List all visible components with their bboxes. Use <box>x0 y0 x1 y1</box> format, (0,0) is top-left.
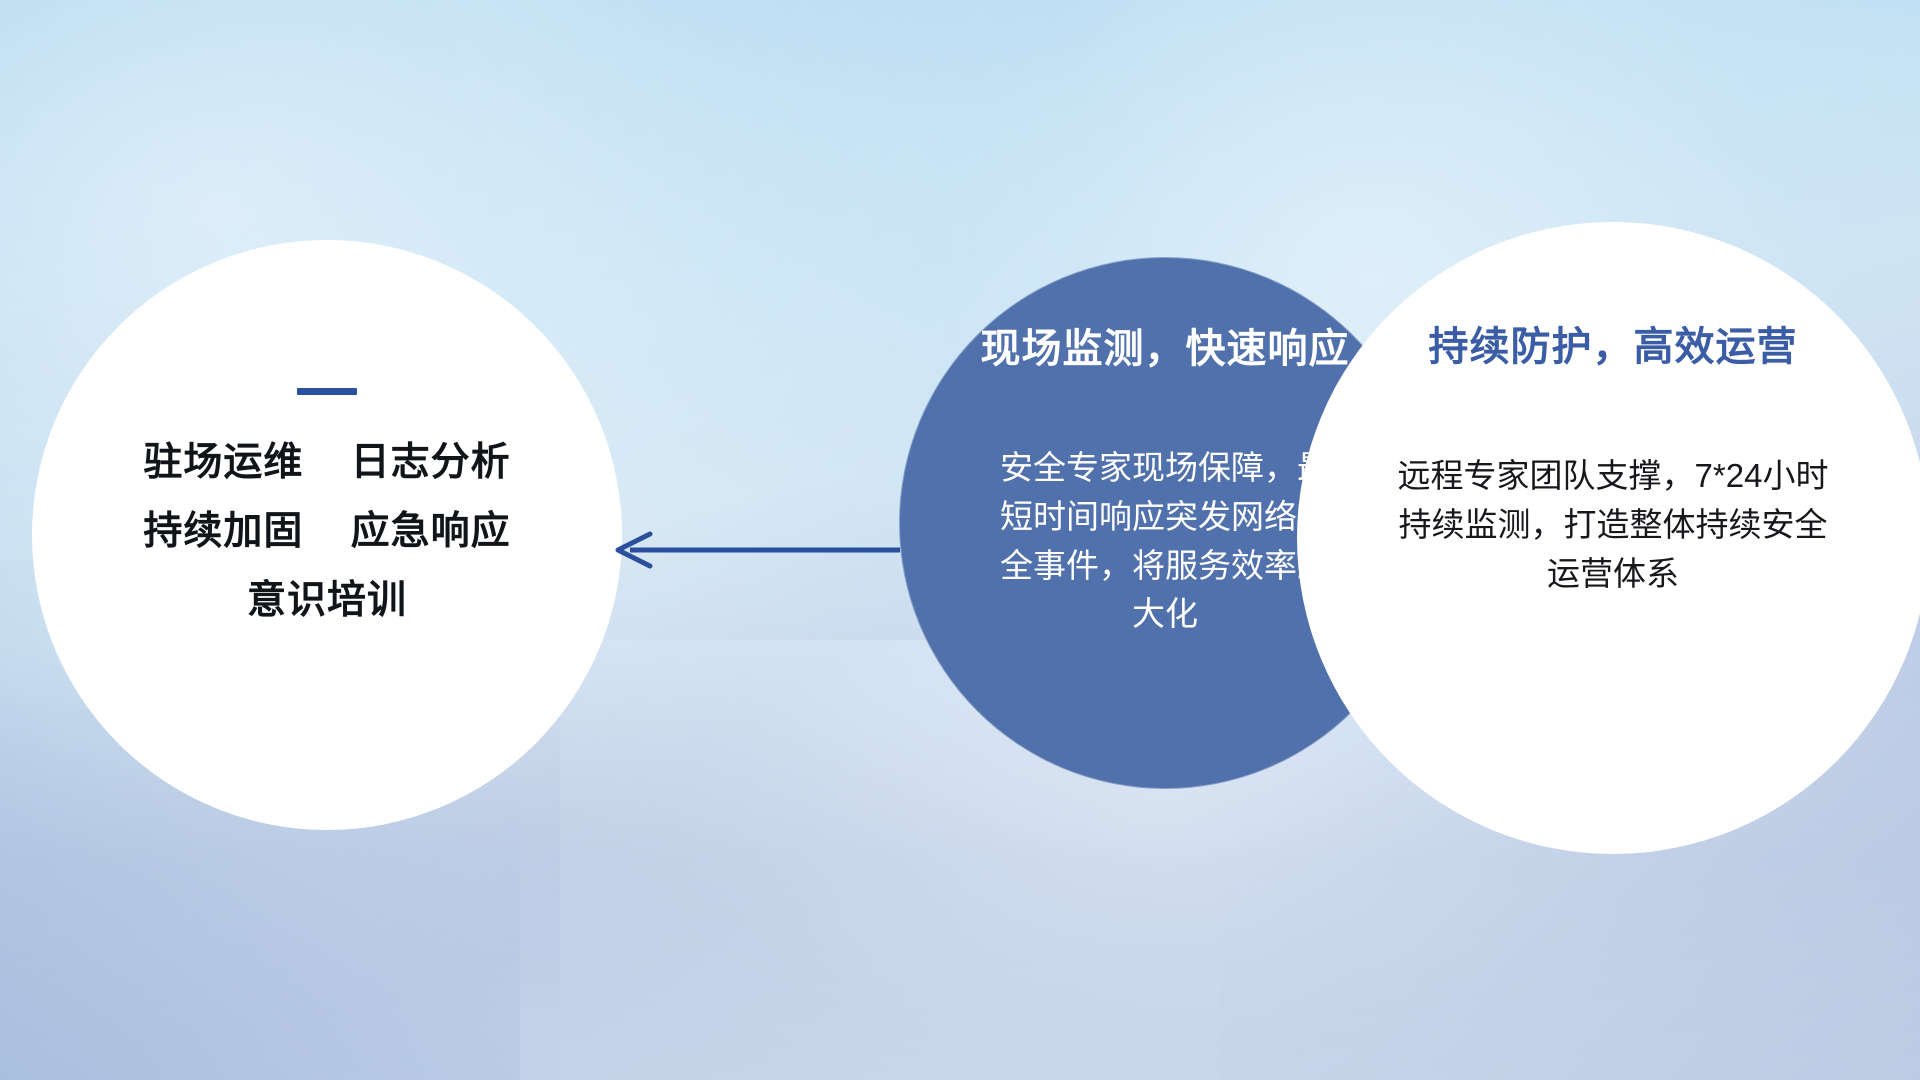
dash-divider-icon <box>297 388 357 395</box>
continuous-operation-title: 持续防护，高效运营 <box>1429 314 1798 372</box>
capability-keyword-list: 驻场运维 日志分析 持续加固 应急响应 意识培训 <box>143 443 510 622</box>
slide-canvas: 驻场运维 日志分析 持续加固 应急响应 意识培训 现场监测，快速响应 安全专家现… <box>0 0 1920 1080</box>
onsite-monitoring-body: 安全专家现场保障，最短时间响应突发网络安全事件，将服务效率最大化 <box>985 444 1345 639</box>
arrow-left-icon <box>600 522 900 578</box>
capability-circle-left[interactable]: 驻场运维 日志分析 持续加固 应急响应 意识培训 <box>32 240 622 830</box>
onsite-monitoring-title: 现场监测，快速响应 <box>981 316 1350 374</box>
capability-keyword-row: 持续加固 应急响应 <box>143 512 510 553</box>
capability-keyword-row: 意识培训 <box>247 581 407 622</box>
continuous-operation-circle[interactable]: 持续防护，高效运营 远程专家团队支撑，7*24小时持续监测，打造整体持续安全运营… <box>1297 222 1920 854</box>
continuous-operation-body: 远程专家团队支撑，7*24小时持续监测，打造整体持续安全运营体系 <box>1387 452 1839 598</box>
capability-keyword-row: 驻场运维 日志分析 <box>143 443 510 484</box>
connector-arrow <box>600 522 900 578</box>
